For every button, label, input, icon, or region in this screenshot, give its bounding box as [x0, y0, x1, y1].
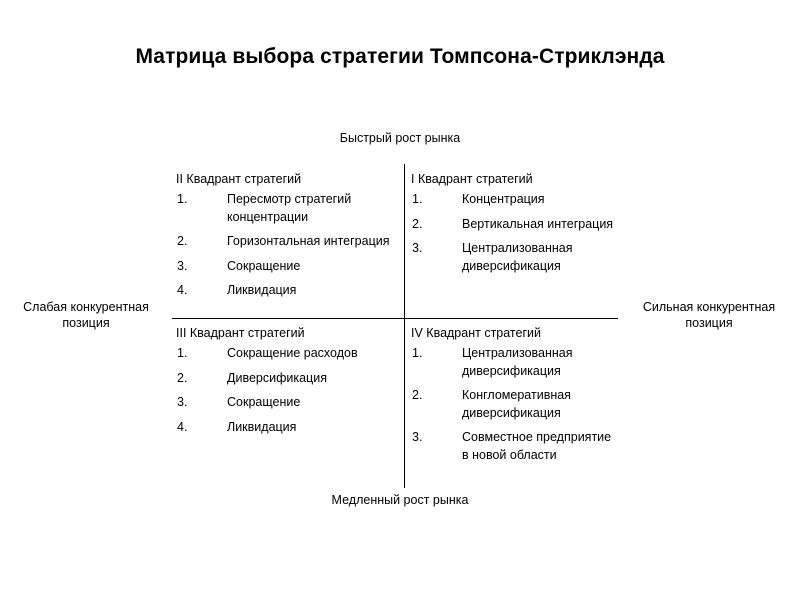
- quadrant-iv-heading: IV Квадрант стратегий: [411, 324, 617, 342]
- list-item: 3. Централизованная диверсификация: [411, 240, 617, 275]
- quadrant-iii-list: 1. Сокращение расходов 2. Диверсификация…: [176, 345, 400, 436]
- list-item: 3. Сокращение: [176, 258, 400, 276]
- list-item: 2. Диверсификация: [176, 370, 400, 388]
- list-item: 1. Централизованная диверсификация: [411, 345, 617, 380]
- matrix-vertical-divider: [404, 164, 405, 488]
- list-item-label: Централизованная диверсификация: [462, 345, 617, 380]
- list-item-number: 3.: [412, 240, 422, 258]
- list-item: 2. Конгломеративная диверсификация: [411, 387, 617, 422]
- list-item-number: 2.: [177, 233, 187, 251]
- list-item-number: 1.: [177, 191, 187, 209]
- quadrant-i-heading: I Квадрант стратегий: [411, 170, 617, 188]
- quadrant-i-list: 1. Концентрация 2. Вертикальная интеграц…: [411, 191, 617, 275]
- list-item: 4. Ликвидация: [176, 282, 400, 300]
- quadrant-iv: IV Квадрант стратегий 1. Централизованна…: [411, 324, 617, 464]
- list-item-label: Сокращение: [227, 258, 400, 276]
- axis-label-weak-competitive-position: Слабая конкурентная позиция: [2, 299, 170, 331]
- list-item-label: Вертикальная интеграция: [462, 216, 617, 234]
- quadrant-iii-heading: III Квадрант стратегий: [176, 324, 400, 342]
- list-item-number: 2.: [412, 216, 422, 234]
- quadrant-ii: II Квадрант стратегий 1. Пересмотр страт…: [176, 170, 400, 300]
- list-item-label: Концентрация: [462, 191, 617, 209]
- list-item: 3. Совместное предприятие в новой област…: [411, 429, 617, 464]
- matrix-horizontal-divider: [172, 318, 618, 319]
- list-item-number: 2.: [177, 370, 187, 388]
- list-item: 2. Горизонтальная интеграция: [176, 233, 400, 251]
- quadrant-iv-list: 1. Централизованная диверсификация 2. Ко…: [411, 345, 617, 464]
- list-item-label: Диверсификация: [227, 370, 400, 388]
- axis-label-strong-competitive-position: Сильная конкурентная позиция: [620, 299, 798, 331]
- list-item: 3. Сокращение: [176, 394, 400, 412]
- list-item-number: 1.: [412, 345, 422, 363]
- list-item: 1. Концентрация: [411, 191, 617, 209]
- list-item-label: Пересмотр стратегий концентрации: [227, 191, 400, 226]
- quadrant-i: I Квадрант стратегий 1. Концентрация 2. …: [411, 170, 617, 275]
- list-item-label: Ликвидация: [227, 282, 400, 300]
- quadrant-ii-list: 1. Пересмотр стратегий концентрации 2. Г…: [176, 191, 400, 300]
- list-item-label: Конгломеративная диверсификация: [462, 387, 617, 422]
- list-item-number: 1.: [412, 191, 422, 209]
- list-item-label: Совместное предприятие в новой области: [462, 429, 617, 464]
- axis-label-fast-market-growth: Быстрый рост рынка: [230, 130, 570, 146]
- list-item-number: 3.: [177, 394, 187, 412]
- list-item: 1. Пересмотр стратегий концентрации: [176, 191, 400, 226]
- list-item-label: Горизонтальная интеграция: [227, 233, 400, 251]
- list-item: 1. Сокращение расходов: [176, 345, 400, 363]
- page-title: Матрица выбора стратегии Томпсона-Стрикл…: [0, 44, 800, 70]
- quadrant-iii: III Квадрант стратегий 1. Сокращение рас…: [176, 324, 400, 436]
- list-item: 2. Вертикальная интеграция: [411, 216, 617, 234]
- list-item-label: Сокращение: [227, 394, 400, 412]
- quadrant-ii-heading: II Квадрант стратегий: [176, 170, 400, 188]
- list-item: 4. Ликвидация: [176, 419, 400, 437]
- list-item-number: 3.: [177, 258, 187, 276]
- list-item-number: 1.: [177, 345, 187, 363]
- list-item-label: Сокращение расходов: [227, 345, 400, 363]
- axis-label-slow-market-growth: Медленный рост рынка: [230, 492, 570, 508]
- list-item-number: 4.: [177, 419, 187, 437]
- list-item-number: 4.: [177, 282, 187, 300]
- list-item-number: 2.: [412, 387, 422, 405]
- slide-canvas: Матрица выбора стратегии Томпсона-Стрикл…: [0, 0, 800, 600]
- list-item-label: Централизованная диверсификация: [462, 240, 617, 275]
- list-item-label: Ликвидация: [227, 419, 400, 437]
- list-item-number: 3.: [412, 429, 422, 447]
